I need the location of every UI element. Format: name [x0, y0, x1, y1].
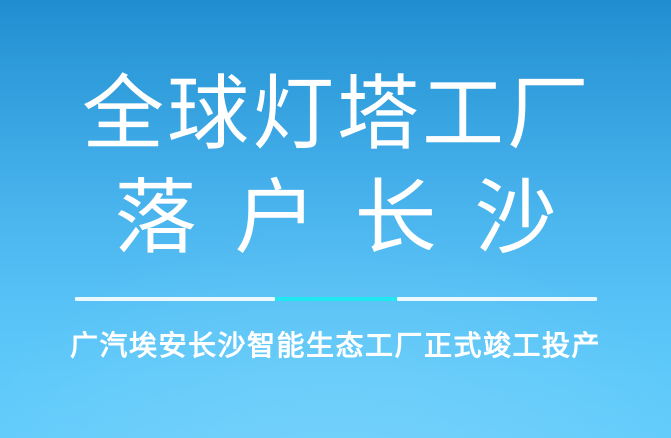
headline-line-1: 全球灯塔工厂 — [0, 63, 671, 167]
divider-segment-right — [397, 297, 597, 301]
subtitle: 广汽埃安长沙智能生态工厂正式竣工投产 — [70, 327, 601, 365]
promo-poster: 全球灯塔工厂 落户长沙 广汽埃安长沙智能生态工厂正式竣工投产 — [0, 0, 671, 438]
headline-line-2: 落户长沙 — [0, 167, 671, 271]
divider — [75, 297, 597, 301]
divider-segment-left — [75, 297, 275, 301]
divider-segment-accent — [275, 297, 397, 301]
headline-block: 全球灯塔工厂 落户长沙 — [0, 63, 671, 271]
